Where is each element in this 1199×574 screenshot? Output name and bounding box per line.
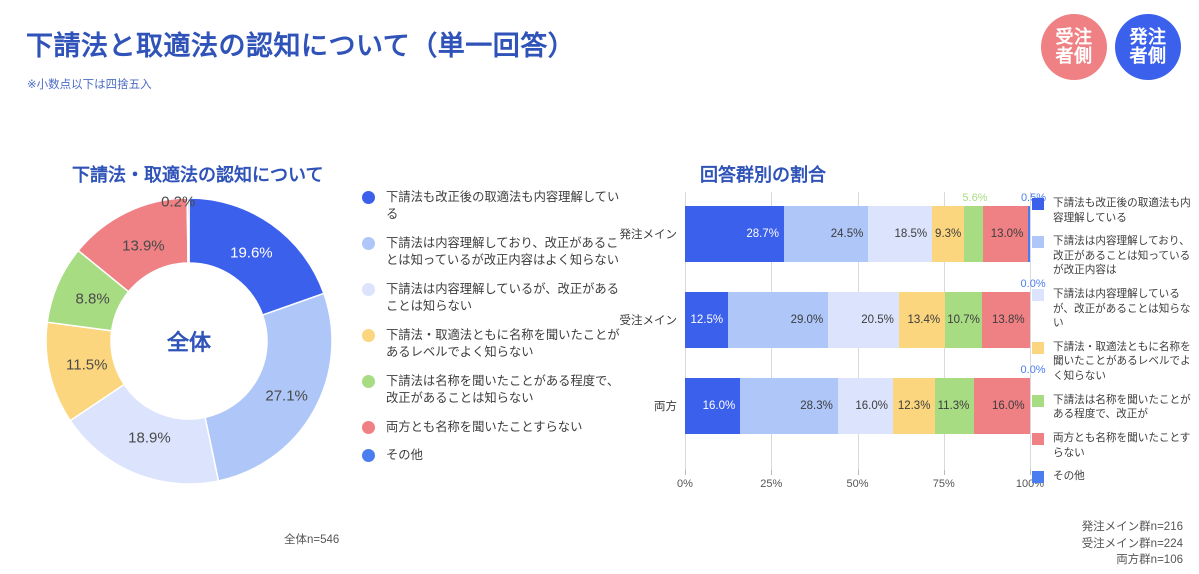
legend-swatch-circle-icon bbox=[362, 421, 375, 434]
donut-legend-item[interactable]: 下請法は名称を聞いたことがある程度で、改正があることは知らない bbox=[362, 373, 620, 408]
bar-legend-item[interactable]: 下請法は内容理解しているが、改正があることは知らない bbox=[1032, 287, 1192, 331]
bar-category-label: 発注メイン bbox=[620, 226, 678, 242]
slide-canvas: 下請法と取適法の認知について（単一回答） ※小数点以下は四捨五入 受注 者側 発… bbox=[0, 0, 1199, 574]
bar-segment-label: 16.0% bbox=[703, 400, 741, 412]
x-tick-mark bbox=[944, 470, 945, 475]
donut-chart-title: 下請法・取適法の認知について bbox=[72, 161, 323, 187]
legend-swatch-square-icon bbox=[1032, 395, 1044, 407]
donut-legend-item[interactable]: 下請法も改正後の取適法も内容理解している bbox=[362, 189, 620, 224]
bar-category-label: 両方 bbox=[654, 398, 677, 414]
badge-group: 受注 者側 発注 者側 bbox=[1041, 14, 1181, 80]
donut-legend-label: 下請法は名称を聞いたことがある程度で、改正があることは知らない bbox=[386, 373, 620, 408]
bar-legend-item[interactable]: その他 bbox=[1032, 469, 1192, 484]
donut-sample-size-note: 全体n=546 bbox=[284, 531, 339, 547]
donut-legend-label: 下請法・取適法ともに名称を聞いたことがあるレベルでよく知らない bbox=[386, 327, 620, 362]
bar-segment-label: 13.4% bbox=[908, 314, 946, 326]
badge-orderee: 受注 者側 bbox=[1041, 14, 1107, 80]
bar-row: 受注メイン12.5%29.0%20.5%13.4%10.7%13.8%0.0% bbox=[685, 292, 1030, 348]
bar-sample-size-note: 受注メイン群n=224 bbox=[1082, 536, 1183, 553]
bar-legend-label: 両方とも名称を聞いたことすらない bbox=[1053, 431, 1192, 460]
bar-segment[interactable]: 13.8% bbox=[982, 292, 1030, 348]
bar-segment[interactable]: 0.5% bbox=[1028, 206, 1030, 262]
bar-segment[interactable]: 9.3% bbox=[932, 206, 964, 262]
donut-slice-label: 11.5% bbox=[66, 356, 107, 373]
donut-legend-item[interactable]: 両方とも名称を聞いたことすらない bbox=[362, 419, 620, 436]
bar-segment[interactable]: 5.6% bbox=[964, 206, 983, 262]
bar-segment-label: 20.5% bbox=[861, 314, 899, 326]
donut-slice-label: 27.1% bbox=[265, 387, 308, 404]
bar-plot-area: 0%25%50%75%100%発注メイン28.7%24.5%18.5%9.3%5… bbox=[685, 192, 1030, 470]
bar-segment-label: 16.0% bbox=[992, 400, 1030, 412]
x-tick-label: 50% bbox=[846, 478, 868, 490]
donut-legend-label: 両方とも名称を聞いたことすらない bbox=[386, 419, 582, 436]
bar-segment[interactable]: 12.5% bbox=[685, 292, 728, 348]
bar-legend-label: 下請法は内容理解しているが、改正があることは知らない bbox=[1053, 287, 1192, 331]
badge-orderer-line1: 発注 bbox=[1130, 28, 1167, 47]
bar-legend-item[interactable]: 下請法は名称を聞いたことがある程度で、改正が bbox=[1032, 393, 1192, 422]
bar-legend-label: 下請法は名称を聞いたことがある程度で、改正が bbox=[1053, 393, 1192, 422]
x-tick-mark bbox=[1030, 470, 1031, 475]
bar-segment-label: 13.8% bbox=[992, 314, 1030, 326]
bar-legend-item[interactable]: 両方とも名称を聞いたことすらない bbox=[1032, 431, 1192, 460]
donut-slice-label: 18.9% bbox=[128, 430, 171, 447]
bar-segment[interactable]: 13.4% bbox=[899, 292, 945, 348]
donut-svg bbox=[44, 196, 334, 486]
legend-swatch-square-icon bbox=[1032, 236, 1044, 248]
bar-segment[interactable]: 20.5% bbox=[828, 292, 899, 348]
bar-segment[interactable]: 12.3% bbox=[893, 378, 935, 434]
bar-chart-title: 回答群別の割合 bbox=[700, 161, 826, 187]
legend-swatch-square-icon bbox=[1032, 289, 1044, 301]
legend-swatch-circle-icon bbox=[362, 237, 375, 250]
badge-orderer: 発注 者側 bbox=[1115, 14, 1181, 80]
badge-orderer-line2: 者側 bbox=[1130, 47, 1167, 66]
bar-segment-outside-label: 5.6% bbox=[962, 192, 987, 204]
donut-legend-item[interactable]: 下請法は内容理解しているが、改正があることは知らない bbox=[362, 281, 620, 316]
bar-category-label: 受注メイン bbox=[620, 312, 678, 328]
legend-swatch-square-icon bbox=[1032, 198, 1044, 210]
legend-swatch-circle-icon bbox=[362, 329, 375, 342]
donut-legend-item[interactable]: その他 bbox=[362, 447, 620, 464]
bar-segment-label: 24.5% bbox=[831, 228, 869, 240]
bar-sample-size-notes: 発注メイン群n=216受注メイン群n=224両方群n=106 bbox=[1082, 519, 1183, 569]
badge-orderee-line2: 者側 bbox=[1056, 47, 1093, 66]
bar-row: 発注メイン28.7%24.5%18.5%9.3%5.6%13.0%0.5% bbox=[685, 206, 1030, 262]
bar-segment-label: 29.0% bbox=[791, 314, 829, 326]
bar-segment-label: 28.3% bbox=[800, 400, 838, 412]
donut-legend: 下請法も改正後の取適法も内容理解している下請法は内容理解しており、改正があること… bbox=[362, 189, 620, 475]
bar-segment[interactable]: 18.5% bbox=[868, 206, 932, 262]
donut-legend-label: その他 bbox=[386, 447, 423, 464]
legend-swatch-square-icon bbox=[1032, 342, 1044, 354]
bar-segment-label: 9.3% bbox=[935, 228, 961, 240]
page-subtitle: ※小数点以下は四捨五入 bbox=[27, 76, 152, 92]
x-tick-mark bbox=[771, 470, 772, 475]
donut-chart: 全体 19.6%27.1%18.9%11.5%8.8%13.9%0.2% bbox=[44, 196, 334, 486]
bar-segment-label: 18.5% bbox=[895, 228, 933, 240]
donut-slice-label: 0.2% bbox=[161, 194, 195, 211]
bar-segment[interactable]: 29.0% bbox=[728, 292, 828, 348]
x-tick-label: 25% bbox=[760, 478, 782, 490]
bar-segment-label: 11.3% bbox=[938, 400, 975, 412]
bar-legend-item[interactable]: 下請法も改正後の取適法も内容理解している bbox=[1032, 196, 1192, 225]
bar-track: 12.5%29.0%20.5%13.4%10.7%13.8%0.0% bbox=[685, 292, 1030, 348]
bar-segment[interactable]: 16.0% bbox=[838, 378, 893, 434]
legend-swatch-square-icon bbox=[1032, 433, 1044, 445]
donut-slice-label: 13.9% bbox=[122, 238, 165, 255]
donut-legend-item[interactable]: 下請法は内容理解しており、改正があることは知っているが改正内容はよく知らない bbox=[362, 235, 620, 270]
legend-swatch-circle-icon bbox=[362, 283, 375, 296]
bar-segment[interactable]: 16.0% bbox=[974, 378, 1029, 434]
bar-legend-label: 下請法・取適法ともに名称を聞いたことがあるレベルでよく知らない bbox=[1053, 340, 1192, 384]
x-tick-label: 0% bbox=[677, 478, 693, 490]
bar-row: 両方16.0%28.3%16.0%12.3%11.3%16.0%0.0% bbox=[685, 378, 1030, 434]
donut-legend-item[interactable]: 下請法・取適法ともに名称を聞いたことがあるレベルでよく知らない bbox=[362, 327, 620, 362]
donut-slice-label: 8.8% bbox=[76, 291, 110, 308]
legend-swatch-circle-icon bbox=[362, 449, 375, 462]
legend-swatch-circle-icon bbox=[362, 375, 375, 388]
bar-legend-item[interactable]: 下請法・取適法ともに名称を聞いたことがあるレベルでよく知らない bbox=[1032, 340, 1192, 384]
donut-legend-label: 下請法は内容理解しているが、改正があることは知らない bbox=[386, 281, 620, 316]
x-tick-label: 75% bbox=[933, 478, 955, 490]
bar-segment[interactable]: 13.0% bbox=[983, 206, 1028, 262]
bar-sample-size-note: 両方群n=106 bbox=[1082, 552, 1183, 569]
bar-segment[interactable]: 28.7% bbox=[685, 206, 784, 262]
bar-segment-label: 28.7% bbox=[746, 228, 784, 240]
badge-orderee-line1: 受注 bbox=[1056, 28, 1093, 47]
x-tick-mark bbox=[685, 470, 686, 475]
bar-legend-item[interactable]: 下請法は内容理解しており、改正があることは知っているが改正内容は bbox=[1032, 234, 1192, 278]
donut-legend-label: 下請法も改正後の取適法も内容理解している bbox=[386, 189, 620, 224]
bar-chart: 0%25%50%75%100%発注メイン28.7%24.5%18.5%9.3%5… bbox=[630, 192, 1030, 502]
bar-segment-label: 10.7% bbox=[947, 314, 980, 326]
bar-segment[interactable]: 28.3% bbox=[740, 378, 838, 434]
bar-track: 16.0%28.3%16.0%12.3%11.3%16.0%0.0% bbox=[685, 378, 1030, 434]
bar-legend-label: 下請法は内容理解しており、改正があることは知っているが改正内容は bbox=[1053, 234, 1192, 278]
bar-segment[interactable]: 11.3% bbox=[935, 378, 974, 434]
bar-segment[interactable]: 24.5% bbox=[784, 206, 868, 262]
bar-segment-label: 12.5% bbox=[691, 314, 729, 326]
donut-slice-label: 19.6% bbox=[230, 244, 273, 261]
bar-segment-label: 13.0% bbox=[991, 228, 1029, 240]
bar-track: 28.7%24.5%18.5%9.3%5.6%13.0%0.5% bbox=[685, 206, 1030, 262]
bar-segment[interactable]: 10.7% bbox=[945, 292, 982, 348]
page-title: 下請法と取適法の認知について（単一回答） bbox=[26, 24, 575, 63]
x-tick-mark bbox=[858, 470, 859, 475]
bar-legend: 下請法も改正後の取適法も内容理解している下請法は内容理解しており、改正があること… bbox=[1032, 196, 1192, 493]
bar-legend-label: その他 bbox=[1053, 469, 1085, 484]
bar-segment-label: 16.0% bbox=[855, 400, 893, 412]
bar-segment[interactable]: 16.0% bbox=[685, 378, 740, 434]
donut-legend-label: 下請法は内容理解しており、改正があることは知っているが改正内容はよく知らない bbox=[386, 235, 620, 270]
legend-swatch-square-icon bbox=[1032, 471, 1044, 483]
bar-sample-size-note: 発注メイン群n=216 bbox=[1082, 519, 1183, 536]
legend-swatch-circle-icon bbox=[362, 191, 375, 204]
grid-line bbox=[1030, 192, 1031, 470]
bar-legend-label: 下請法も改正後の取適法も内容理解している bbox=[1053, 196, 1192, 225]
bar-segment-label: 12.3% bbox=[898, 400, 936, 412]
